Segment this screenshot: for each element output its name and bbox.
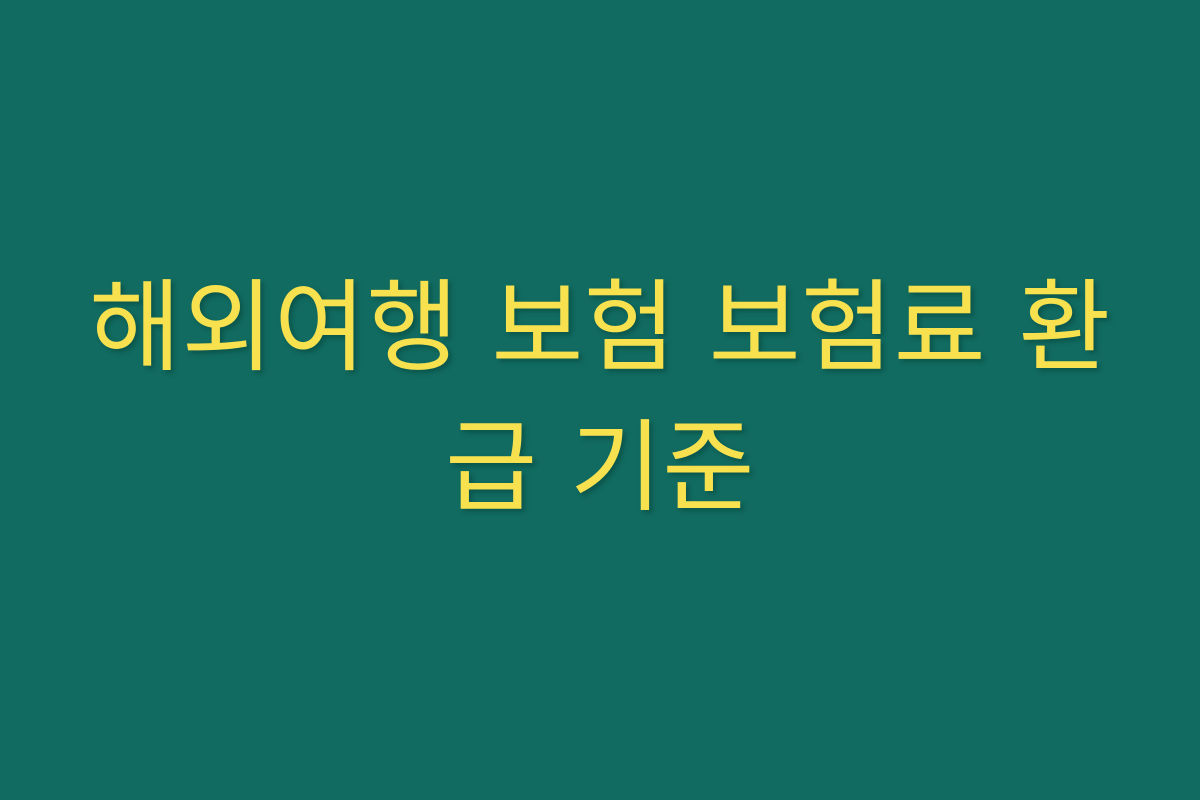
title-line-2: 급 기준 (70, 398, 1130, 538)
page-title: 해외여행 보험 보험료 환 급 기준 (70, 258, 1130, 538)
title-card-canvas: 해외여행 보험 보험료 환 급 기준 (0, 0, 1200, 800)
title-line-1: 해외여행 보험 보험료 환 (70, 258, 1130, 398)
